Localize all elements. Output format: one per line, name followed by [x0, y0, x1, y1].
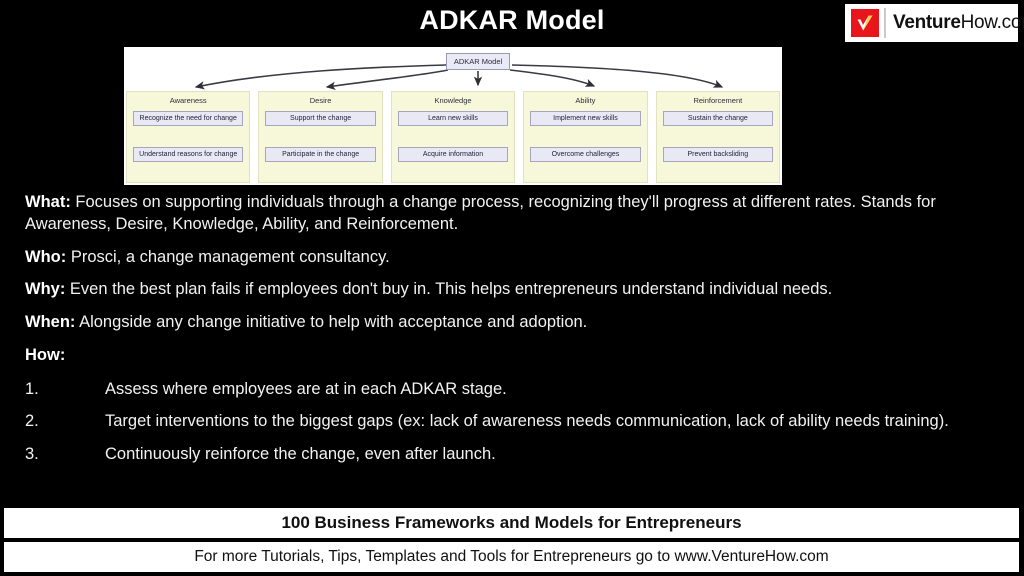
when-text: Alongside any change initiative to help … — [75, 313, 587, 331]
brand-logo[interactable]: VentureHow.com — [845, 4, 1018, 42]
who-paragraph: Who: Prosci, a change management consult… — [25, 247, 975, 269]
how-paragraph: How: — [25, 345, 975, 367]
list-item: 3.Continuously reinforce the change, eve… — [25, 444, 975, 466]
diagram-column-reinforcement: Reinforcement Sustain the change Prevent… — [656, 91, 780, 183]
what-text: Focuses on supporting individuals throug… — [25, 193, 936, 233]
column-title: Reinforcement — [693, 96, 742, 105]
when-paragraph: When: Alongside any change initiative to… — [25, 312, 975, 334]
why-label: Why: — [25, 280, 65, 298]
who-label: Who: — [25, 248, 66, 266]
what-label: What: — [25, 193, 71, 211]
brand-name: VentureHow.com — [893, 12, 1024, 34]
list-item: 1.Assess where employees are at in each … — [25, 379, 975, 401]
diagram-column-awareness: Awareness Recognize the need for change … — [126, 91, 250, 183]
logo-divider — [884, 8, 886, 38]
column-item: Overcome challenges — [530, 147, 640, 162]
why-text: Even the best plan fails if employees do… — [65, 280, 832, 298]
list-item-text: Continuously reinforce the change, even … — [105, 445, 496, 463]
column-title: Ability — [575, 96, 595, 105]
column-item: Implement new skills — [530, 111, 640, 126]
adkar-diagram: ADKAR Model Awareness Recognize the need… — [124, 47, 782, 185]
column-item: Support the change — [265, 111, 375, 126]
checkmark-icon — [851, 9, 879, 37]
list-item-number: 3. — [25, 444, 105, 466]
body-content: What: Focuses on supporting individuals … — [25, 192, 975, 477]
footer-secondary-banner: For more Tutorials, Tips, Templates and … — [4, 542, 1019, 572]
column-item: Learn new skills — [398, 111, 508, 126]
brand-name-regular: How.com — [961, 12, 1024, 33]
diagram-column-knowledge: Knowledge Learn new skills Acquire infor… — [391, 91, 515, 183]
footer-primary-banner: 100 Business Frameworks and Models for E… — [4, 508, 1019, 538]
column-title: Desire — [310, 96, 332, 105]
column-item: Participate in the change — [265, 147, 375, 162]
diagram-columns: Awareness Recognize the need for change … — [126, 91, 780, 183]
red-checkmark-logo-icon — [851, 9, 879, 37]
what-paragraph: What: Focuses on supporting individuals … — [25, 192, 975, 236]
who-text: Prosci, a change management consultancy. — [66, 248, 389, 266]
column-item: Acquire information — [398, 147, 508, 162]
column-item: Recognize the need for change — [133, 111, 243, 126]
brand-name-bold: Venture — [893, 12, 961, 33]
diagram-column-desire: Desire Support the change Participate in… — [258, 91, 382, 183]
column-item: Sustain the change — [663, 111, 773, 126]
why-paragraph: Why: Even the best plan fails if employe… — [25, 279, 975, 301]
list-item-number: 1. — [25, 379, 105, 401]
list-item: 2.Target interventions to the biggest ga… — [25, 411, 975, 433]
diagram-root-node: ADKAR Model — [446, 53, 510, 70]
column-title: Knowledge — [434, 96, 471, 105]
diagram-column-ability: Ability Implement new skills Overcome ch… — [523, 91, 647, 183]
list-item-text: Assess where employees are at in each AD… — [105, 380, 507, 398]
list-item-number: 2. — [25, 411, 105, 433]
list-item-text: Target interventions to the biggest gaps… — [105, 412, 949, 430]
how-label: How: — [25, 346, 65, 364]
when-label: When: — [25, 313, 75, 331]
column-title: Awareness — [170, 96, 207, 105]
column-item: Prevent backsliding — [663, 147, 773, 162]
column-item: Understand reasons for change — [133, 147, 243, 162]
